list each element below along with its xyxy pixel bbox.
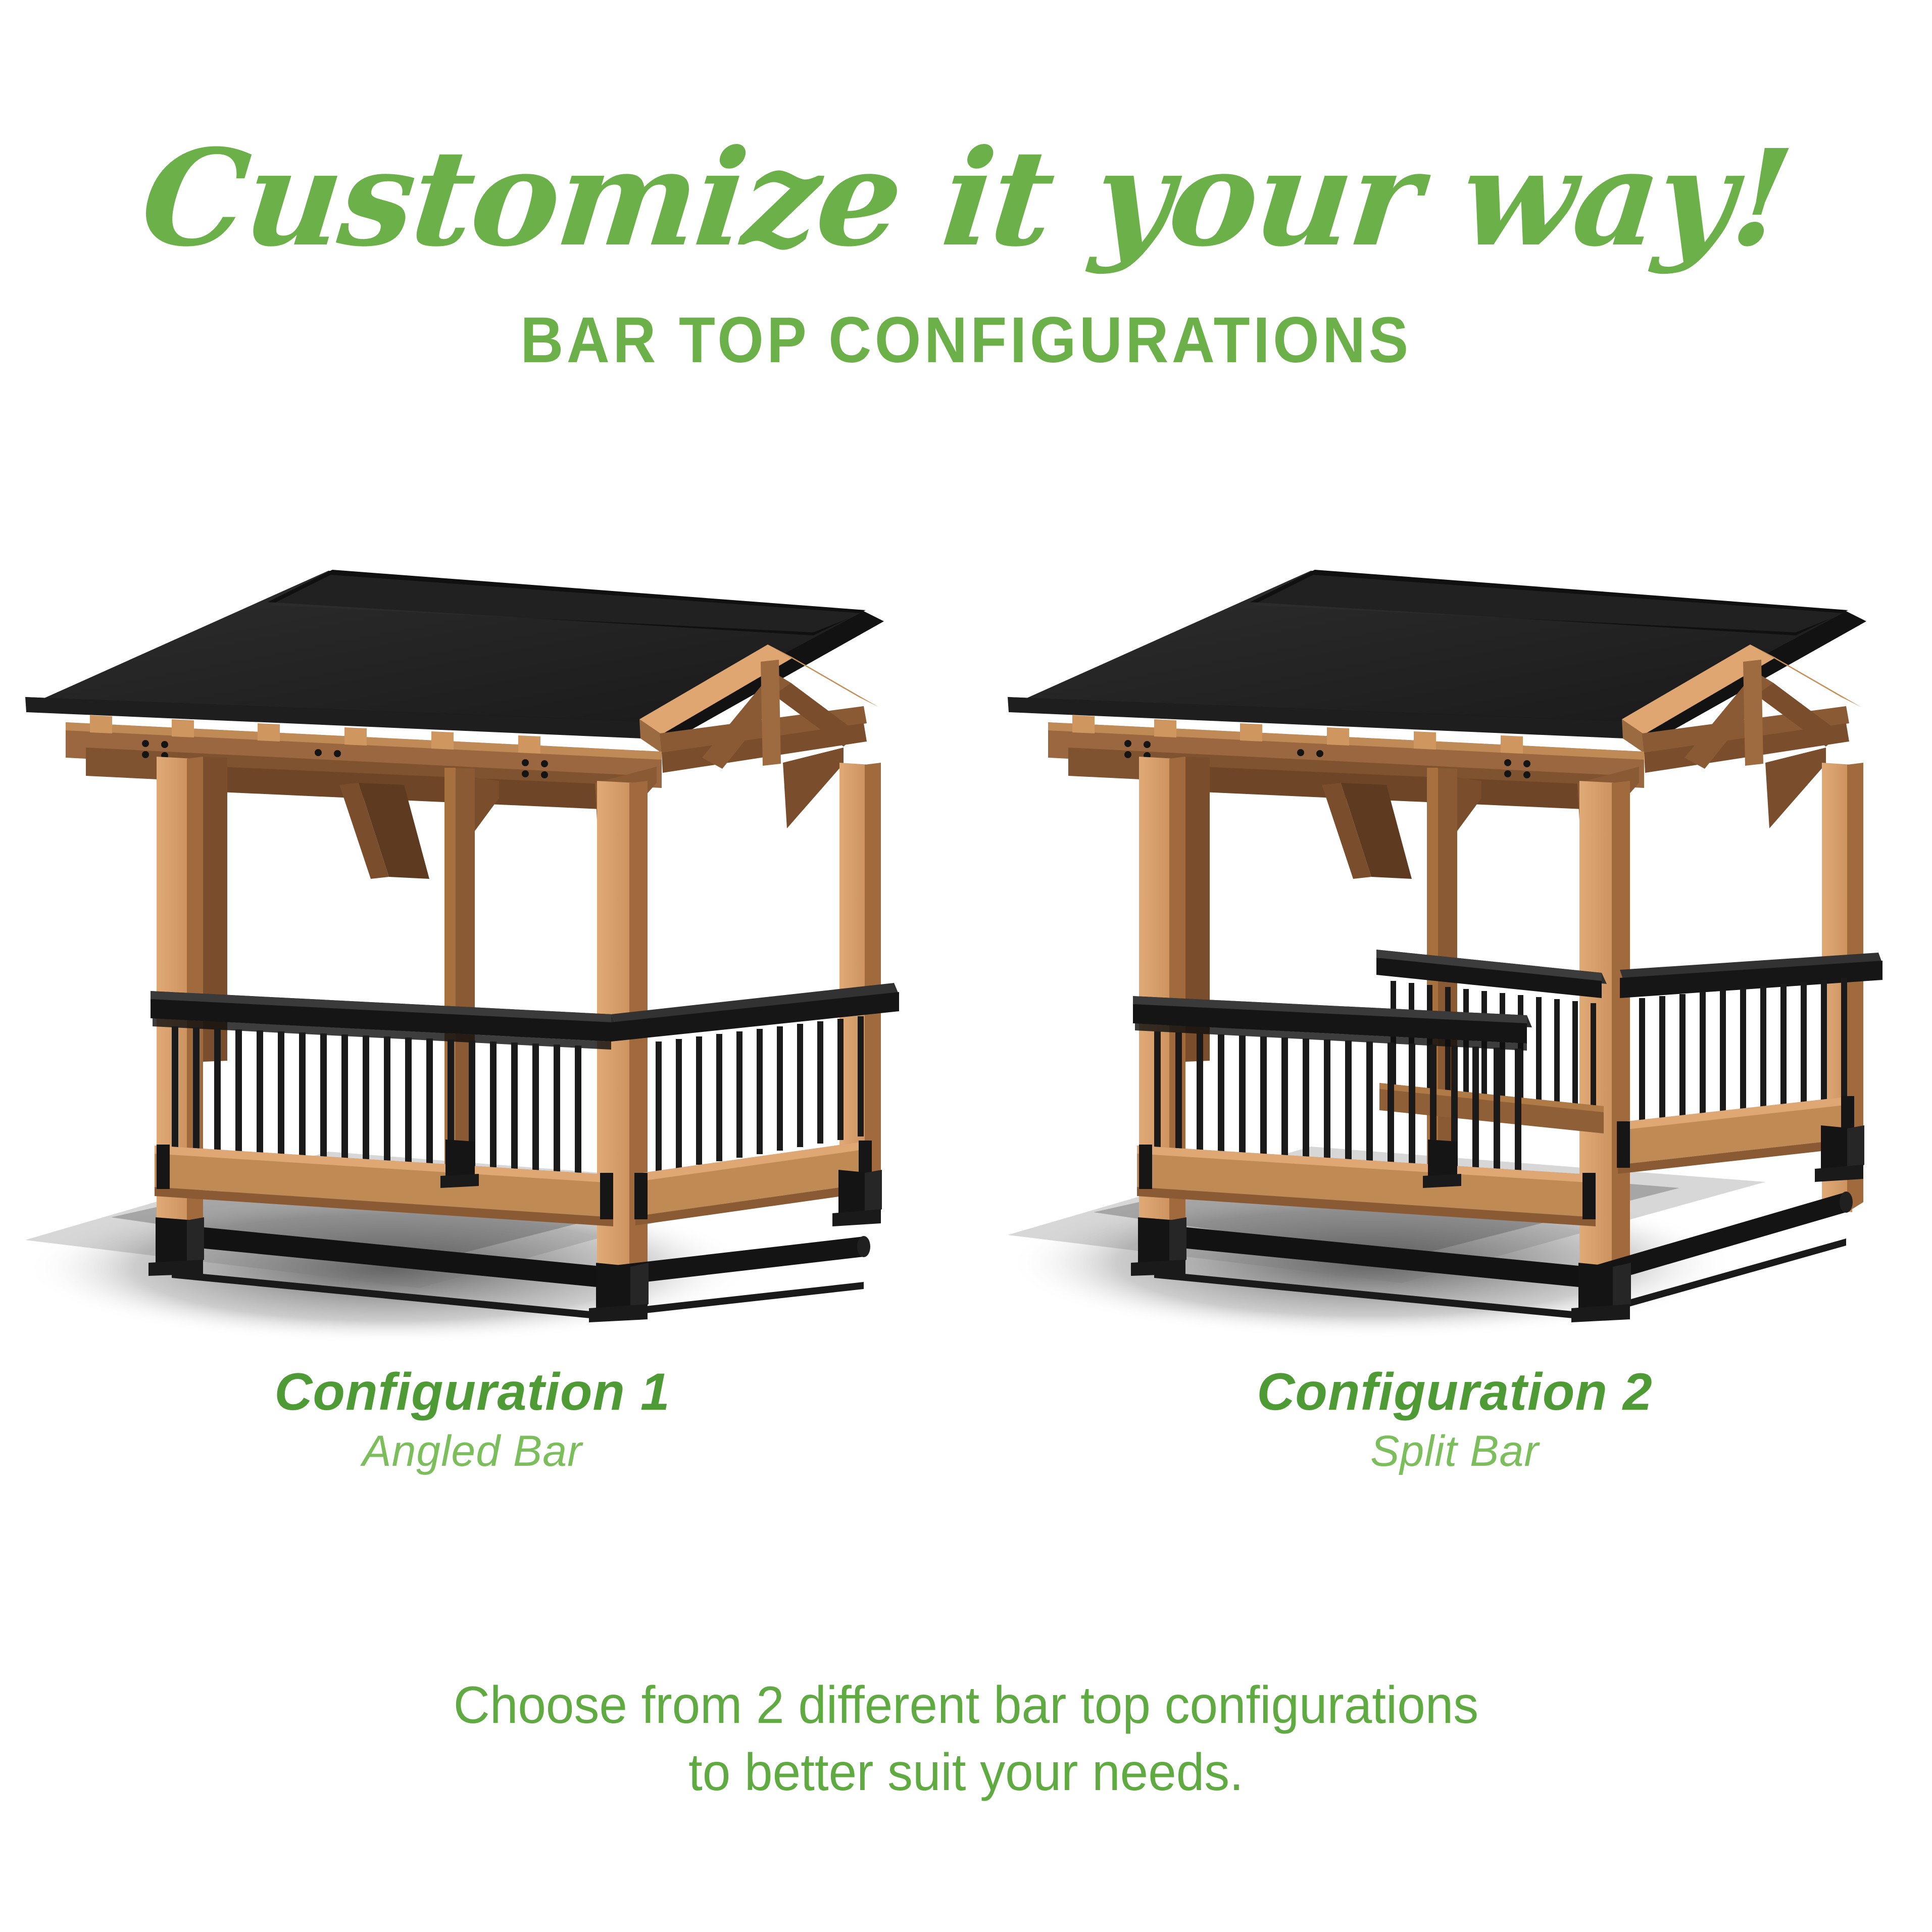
ceiling-beams [197,766,601,879]
footer-line-1: Choose from 2 different bar top configur… [454,1676,1478,1735]
page-subtitle: BAR TOP CONFIGURATIONS [77,303,1855,377]
gazebo-comparison-scene [0,546,1932,1379]
config-2-subtitle: Split Bar [987,1427,1922,1475]
footer-line-2: to better suit your needs. [39,1739,1894,1806]
config-1-subtitle: Angled Bar [5,1427,939,1475]
page-title: Customize it your way! [0,129,1932,268]
caption-configuration-2: Configuration 2 Split Bar [987,1364,1922,1475]
caption-configuration-1: Configuration 1 Angled Bar [5,1364,939,1475]
ceiling-beams [1179,766,1583,879]
configuration-captions: Configuration 1 Angled Bar Configuration… [0,1364,1932,1515]
config-1-title: Configuration 1 [5,1364,939,1420]
poster-canvas: Customize it your way! BAR TOP CONFIGURA… [0,0,1932,1932]
gazebo-configuration-2[interactable] [987,546,1922,1379]
gazebo-configuration-1[interactable] [5,546,939,1379]
footer-description: Choose from 2 different bar top configur… [39,1672,1894,1806]
config-2-title: Configuration 2 [987,1364,1922,1420]
